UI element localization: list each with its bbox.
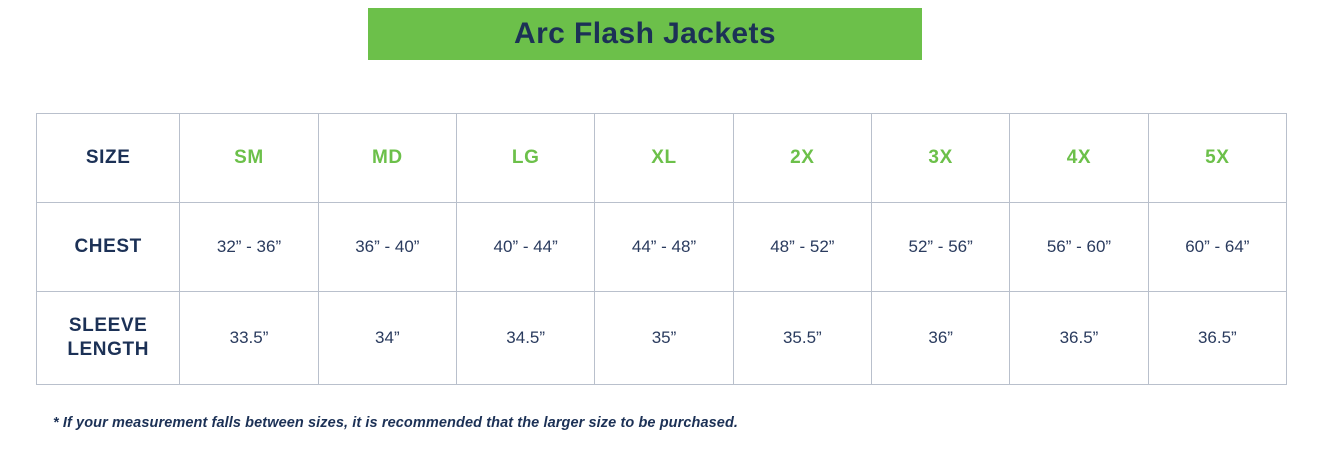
sleeve-value-md: 34” xyxy=(375,328,400,347)
size-label-sm: SM xyxy=(234,147,264,168)
title-banner: Arc Flash Jackets xyxy=(368,8,922,60)
chest-cell-2x: 48” - 52” xyxy=(733,203,871,292)
table-row-chest: CHEST 32” - 36” 36” - 40” 40” - 44” 44” … xyxy=(37,203,1287,292)
row-label-chest: CHEST xyxy=(74,236,141,257)
header-cell-2x: 2X xyxy=(733,114,871,203)
sleeve-value-2x: 35.5” xyxy=(783,328,822,347)
header-cell-md: MD xyxy=(318,114,456,203)
sleeve-cell-2x: 35.5” xyxy=(733,292,871,385)
sleeve-cell-lg: 34.5” xyxy=(457,292,595,385)
header-cell-size: SIZE xyxy=(37,114,180,203)
header-cell-3x: 3X xyxy=(871,114,1009,203)
sleeve-value-3x: 36” xyxy=(928,328,953,347)
table-header-row: SIZE SM MD LG XL 2X 3X xyxy=(37,114,1287,203)
chest-cell-lg: 40” - 44” xyxy=(457,203,595,292)
size-label-3x: 3X xyxy=(928,147,952,168)
chest-cell-4x: 56” - 60” xyxy=(1010,203,1148,292)
chest-value-sm: 32” - 36” xyxy=(217,237,281,256)
chest-cell-sm: 32” - 36” xyxy=(180,203,318,292)
chest-value-3x: 52” - 56” xyxy=(909,237,973,256)
footnote-text: * If your measurement falls between size… xyxy=(53,415,738,431)
chest-value-2x: 48” - 52” xyxy=(770,237,834,256)
header-cell-xl: XL xyxy=(595,114,733,203)
size-label-md: MD xyxy=(372,147,403,168)
chest-value-lg: 40” - 44” xyxy=(494,237,558,256)
chest-value-5x: 60” - 64” xyxy=(1185,237,1249,256)
row-label-sleeve-cell: SLEEVE LENGTH xyxy=(37,292,180,385)
sleeve-value-sm: 33.5” xyxy=(230,328,269,347)
header-size-label: SIZE xyxy=(86,147,131,168)
chest-cell-5x: 60” - 64” xyxy=(1148,203,1286,292)
row-label-sleeve-line2: LENGTH xyxy=(37,338,179,362)
sleeve-value-xl: 35” xyxy=(652,328,677,347)
size-label-xl: XL xyxy=(651,147,676,168)
sleeve-cell-4x: 36.5” xyxy=(1010,292,1148,385)
header-cell-lg: LG xyxy=(457,114,595,203)
size-label-5x: 5X xyxy=(1205,147,1229,168)
size-chart-table: SIZE SM MD LG XL 2X 3X xyxy=(36,113,1287,385)
size-label-lg: LG xyxy=(512,147,540,168)
chest-value-4x: 56” - 60” xyxy=(1047,237,1111,256)
chest-value-md: 36” - 40” xyxy=(355,237,419,256)
chest-cell-md: 36” - 40” xyxy=(318,203,456,292)
sleeve-value-4x: 36.5” xyxy=(1060,328,1099,347)
size-chart-page: Arc Flash Jackets SIZE SM MD LG xyxy=(0,0,1323,456)
header-cell-4x: 4X xyxy=(1010,114,1148,203)
sleeve-value-lg: 34.5” xyxy=(506,328,545,347)
header-cell-5x: 5X xyxy=(1148,114,1286,203)
sleeve-cell-xl: 35” xyxy=(595,292,733,385)
chest-value-xl: 44” - 48” xyxy=(632,237,696,256)
sleeve-value-5x: 36.5” xyxy=(1198,328,1237,347)
page-title: Arc Flash Jackets xyxy=(514,17,776,51)
header-cell-sm: SM xyxy=(180,114,318,203)
sleeve-cell-5x: 36.5” xyxy=(1148,292,1286,385)
row-label-chest-cell: CHEST xyxy=(37,203,180,292)
size-label-2x: 2X xyxy=(790,147,814,168)
sleeve-cell-md: 34” xyxy=(318,292,456,385)
size-label-4x: 4X xyxy=(1067,147,1091,168)
sleeve-cell-sm: 33.5” xyxy=(180,292,318,385)
table-row-sleeve-length: SLEEVE LENGTH 33.5” 34” 34.5” 35” 35.5” xyxy=(37,292,1287,385)
row-label-sleeve-line1: SLEEVE xyxy=(37,314,179,338)
chest-cell-xl: 44” - 48” xyxy=(595,203,733,292)
sleeve-cell-3x: 36” xyxy=(871,292,1009,385)
chest-cell-3x: 52” - 56” xyxy=(871,203,1009,292)
